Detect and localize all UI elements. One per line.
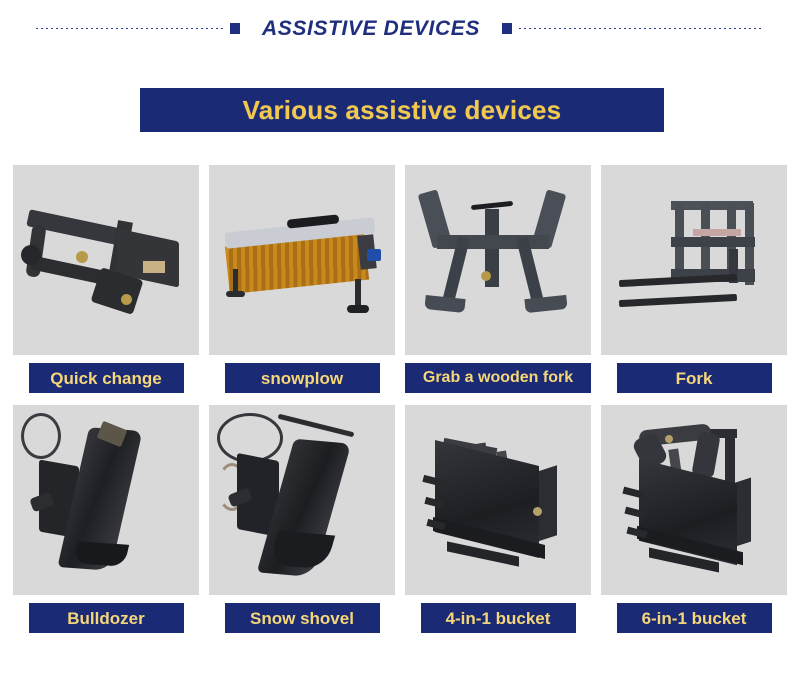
product-photo (601, 405, 787, 595)
product-photo (13, 405, 199, 595)
square-marker-left-icon (230, 23, 240, 34)
product-card[interactable]: Bulldozer (13, 405, 199, 645)
product-photo (13, 165, 199, 355)
product-label-text: 4-in-1 bucket (446, 610, 551, 627)
product-label-text: Grab a wooden fork (423, 370, 573, 386)
product-card[interactable]: Grab a wooden fork (405, 165, 591, 405)
rotary-broom-snowplow-illustration (217, 173, 387, 348)
page-header: ASSISTIVE DEVICES (0, 0, 800, 56)
log-grapple-fork-illustration (413, 173, 583, 348)
product-label-bar: snowplow (225, 363, 380, 393)
product-label-bar: Quick change (29, 363, 184, 393)
product-card[interactable]: Quick change (13, 165, 199, 405)
pallet-fork-illustration (609, 173, 779, 348)
product-photo (405, 405, 591, 595)
product-grid: Quick change snowplow Grab a (13, 165, 787, 645)
six-in-one-bucket-illustration (609, 413, 779, 588)
square-marker-right-icon (502, 23, 512, 34)
product-photo (209, 405, 395, 595)
dozer-blade-illustration (21, 413, 191, 588)
product-label-bar: 6-in-1 bucket (617, 603, 772, 633)
section-banner-title: Various assistive devices (243, 95, 562, 126)
four-in-one-bucket-illustration (413, 413, 583, 588)
product-label-text: Fork (676, 370, 713, 387)
section-banner: Various assistive devices (140, 88, 664, 132)
product-photo (405, 165, 591, 355)
product-photo (601, 165, 787, 355)
product-card[interactable]: snowplow (209, 165, 395, 405)
product-label-bar: Grab a wooden fork (405, 363, 591, 393)
product-label-text: Snow shovel (250, 610, 354, 627)
product-card[interactable]: 4-in-1 bucket (405, 405, 591, 645)
product-card[interactable]: 6-in-1 bucket (601, 405, 787, 645)
product-card[interactable]: Fork (601, 165, 787, 405)
product-label-bar: Fork (617, 363, 772, 393)
product-label-bar: Snow shovel (225, 603, 380, 633)
header-rule-right (519, 28, 764, 29)
product-card[interactable]: Snow shovel (209, 405, 395, 645)
product-label-text: 6-in-1 bucket (642, 610, 747, 627)
snow-shovel-blade-illustration (217, 413, 387, 588)
product-label-text: Bulldozer (67, 610, 144, 627)
product-label-text: Quick change (50, 370, 161, 387)
header-rule-left (36, 28, 223, 29)
page-title: ASSISTIVE DEVICES (240, 18, 502, 39)
product-label-bar: Bulldozer (29, 603, 184, 633)
quick-change-coupler-illustration (21, 173, 191, 348)
product-photo (209, 165, 395, 355)
product-label-text: snowplow (261, 370, 343, 387)
product-label-bar: 4-in-1 bucket (421, 603, 576, 633)
